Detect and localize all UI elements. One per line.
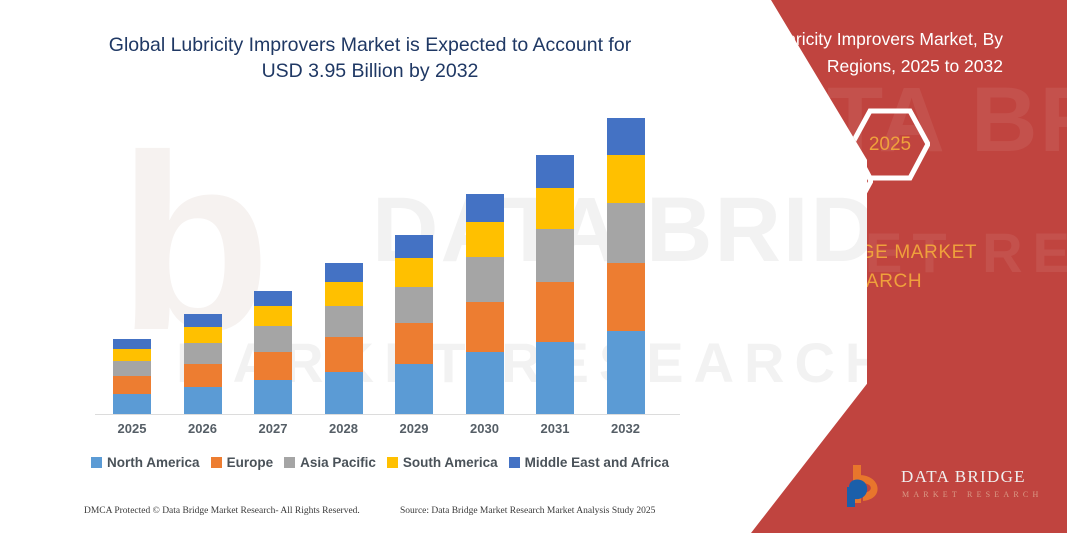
bar-2027 [254,291,292,415]
legend-label: North America [107,455,200,470]
bar-segment [466,302,504,352]
bar-segment [184,387,222,415]
bar-segment [607,331,645,415]
bar-segment [536,155,574,187]
bar-segment [113,394,151,415]
bar-2032 [607,118,645,415]
x-axis-label-2029: 2029 [379,421,449,436]
bar-segment [607,155,645,202]
bar-segment [536,229,574,282]
legend-swatch [509,457,520,468]
bar-segment [466,222,504,257]
legend-item: South America [387,455,498,470]
bar-segment [325,372,363,415]
x-axis-label-2030: 2030 [450,421,520,436]
legend-label: South America [403,455,498,470]
bar-segment [395,364,433,415]
x-axis-label-2031: 2031 [520,421,590,436]
infographic-canvas: b DATA BRIDGE MARKET RESEARCH Global Lub… [0,0,1067,533]
x-axis-label-2028: 2028 [309,421,379,436]
legend-label: Europe [227,455,274,470]
bar-segment [536,188,574,230]
bar-segment [325,282,363,307]
bar-segment [184,364,222,387]
legend-swatch [91,457,102,468]
panel-title-line-2: Regions, 2025 to 2032 [685,53,1003,80]
hexagon-2025: 2025 [850,108,930,181]
bar-segment [184,314,222,327]
bar-segment [536,282,574,341]
bar-2028 [325,263,363,415]
logo-bridge-icon [845,463,893,509]
legend-label: Middle East and Africa [525,455,669,470]
chart-title-line-1: Global Lubricity Improvers Market is Exp… [60,32,680,58]
logo-tagline: MARKET RESEARCH [902,490,1042,499]
bar-segment [113,339,151,349]
bar-2025 [113,339,151,415]
chart-legend: North AmericaEuropeAsia PacificSouth Ame… [0,455,760,470]
chart-title: Global Lubricity Improvers Market is Exp… [60,32,680,84]
bar-segment [607,263,645,331]
legend-swatch [284,457,295,468]
chart-title-line-2: USD 3.95 Billion by 2032 [60,58,680,84]
bar-segment [113,376,151,394]
bar-segment [254,352,292,380]
bar-segment [466,194,504,222]
bar-segment [395,287,433,324]
bar-segment [325,263,363,282]
footer-source: Source: Data Bridge Market Research Mark… [400,506,655,516]
legend-swatch [387,457,398,468]
footer: DMCA Protected © Data Bridge Market Rese… [0,506,700,526]
x-axis-label-2032: 2032 [591,421,661,436]
logo-name: DATA BRIDGE [901,467,1026,487]
bar-2029 [395,235,433,415]
bar-segment [184,327,222,343]
bar-segment [607,118,645,155]
legend-item: Middle East and Africa [509,455,669,470]
bar-segment [325,306,363,337]
bar-segment [325,337,363,372]
bar-segment [254,380,292,415]
bar-segment [254,326,292,351]
bar-2026 [184,314,222,415]
bar-segment [466,352,504,415]
bar-segment [395,323,433,364]
bar-segment [395,235,433,258]
x-axis-label-2025: 2025 [97,421,167,436]
bar-segment [254,306,292,326]
bar-2030 [466,194,504,415]
hexagon-2025-label: 2025 [869,134,911,156]
legend-label: Asia Pacific [300,455,376,470]
bar-segment [466,257,504,302]
x-axis-label-2027: 2027 [238,421,308,436]
bar-segment [113,361,151,377]
legend-item: Asia Pacific [284,455,376,470]
company-logo: DATA BRIDGE MARKET RESEARCH [845,461,1045,513]
bar-segment [113,349,151,361]
bar-segment [395,258,433,287]
x-axis-line [95,414,680,415]
footer-copyright: DMCA Protected © Data Bridge Market Rese… [84,506,360,516]
bar-segment [254,291,292,307]
bar-segment [536,342,574,415]
legend-item: North America [91,455,200,470]
panel-title: Global Lubricity Improvers Market, By Re… [685,26,1003,80]
stacked-bar-chart [95,110,675,415]
legend-item: Europe [211,455,274,470]
panel-title-line-1: Global Lubricity Improvers Market, By [685,26,1003,53]
bar-segment [607,203,645,264]
x-axis-label-2026: 2026 [168,421,238,436]
x-axis-labels: 20252026202720282029203020312032 [95,421,675,445]
bar-2031 [536,155,574,415]
bar-segment [184,343,222,363]
legend-swatch [211,457,222,468]
